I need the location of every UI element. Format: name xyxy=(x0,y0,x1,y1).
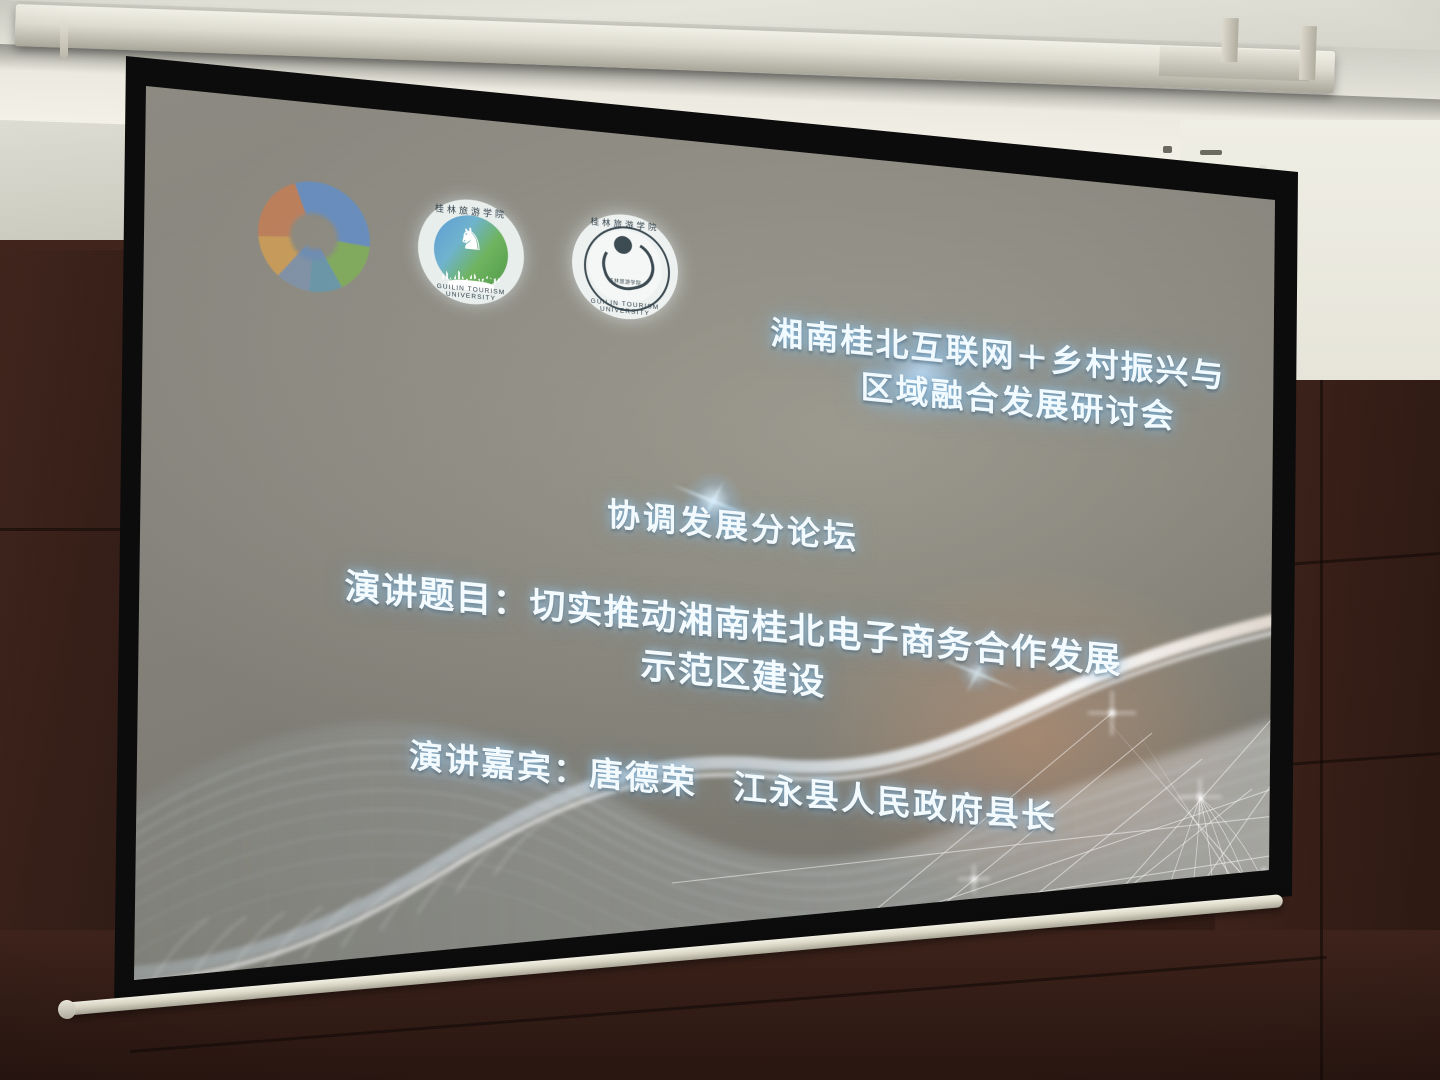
projection-screen: ♞ 桂林旅游学院 GUILIN TOURISM UNIVERSITY 桂林旅游学… xyxy=(0,0,1440,1080)
swirl-emblem-icon xyxy=(258,176,370,297)
slide-content: ♞ 桂林旅游学院 GUILIN TOURISM UNIVERSITY 桂林旅游学… xyxy=(138,76,1302,1013)
event-header: 湘南桂北互联网＋乡村振兴与 区域融合发展研讨会 xyxy=(738,307,1258,447)
guilin-tourism-university-seal-green-icon: ♞ 桂林旅游学院 GUILIN TOURISM UNIVERSITY xyxy=(418,195,524,310)
logo-row: ♞ 桂林旅游学院 GUILIN TOURISM UNIVERSITY 桂林旅游学… xyxy=(258,176,678,327)
screen-weight-bar-end-cap xyxy=(57,999,77,1019)
seal-horse-icon: ♞ xyxy=(448,221,494,259)
screen-projection-area: ♞ 桂林旅游学院 GUILIN TOURISM UNIVERSITY 桂林旅游学… xyxy=(112,48,1302,1013)
guilin-tourism-university-seal-white-icon: 桂林旅游学院 桂林旅游学院 GUILIN TOURISM UNIVERSITY xyxy=(572,209,678,324)
photo-scene: ♞ 桂林旅游学院 GUILIN TOURISM UNIVERSITY 桂林旅游学… xyxy=(0,0,1440,1080)
